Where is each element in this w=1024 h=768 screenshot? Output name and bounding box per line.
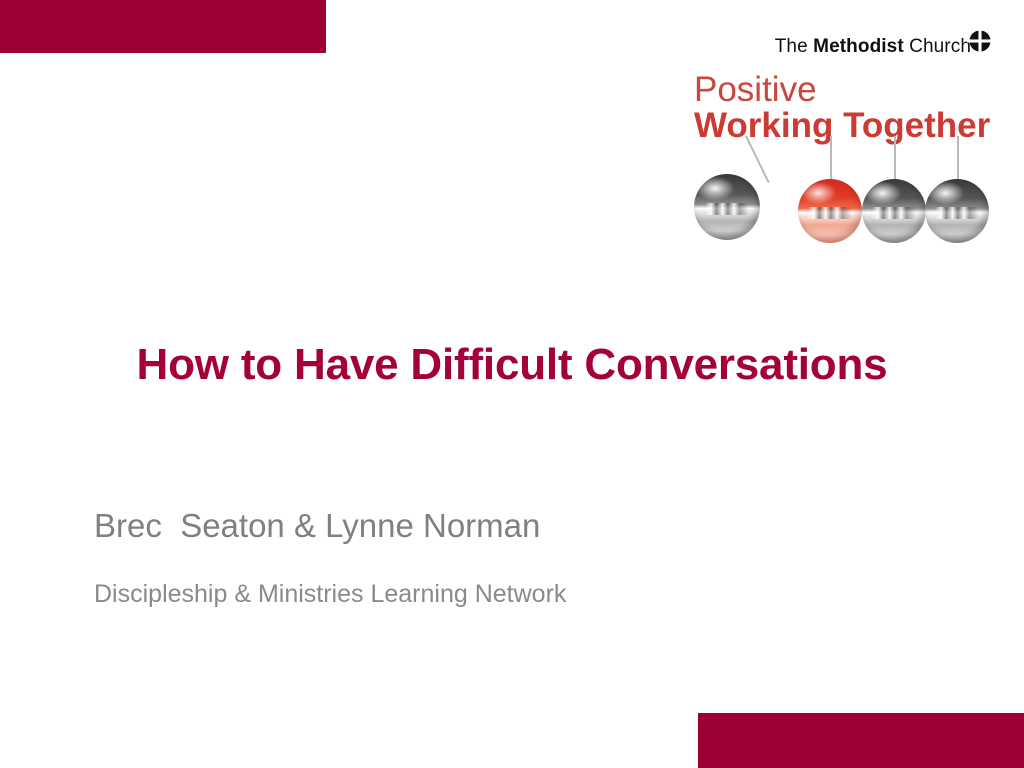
methodist-wordmark: The Methodist Church: [775, 36, 971, 58]
silver-ball-right: [925, 179, 989, 243]
presenter-names: Brec Seaton & Lynne Norman: [94, 506, 814, 546]
wordmark-prefix: The: [775, 36, 813, 57]
tagline-positive: Positive: [694, 72, 817, 107]
methodist-church-logo: The Methodist Church Positive Working To…: [683, 28, 993, 258]
bottom-right-accent-bar: [698, 713, 1024, 768]
ball-reflection: [935, 207, 979, 219]
top-left-accent-bar: [0, 0, 326, 53]
page-title: How to Have Difficult Conversations: [92, 340, 932, 391]
silver-ball-middle: [862, 179, 926, 243]
ball-reflection: [808, 207, 852, 219]
circle-cross-icon: [967, 28, 993, 54]
presentation-slide: The Methodist Church Positive Working To…: [0, 0, 1024, 768]
organisation-name: Discipleship & Ministries Learning Netwo…: [94, 579, 814, 609]
swinging-silver-ball: [694, 174, 760, 240]
red-ball: [798, 179, 862, 243]
tagline-working-together: Working Together: [694, 108, 990, 143]
string-swinging-ball: [745, 136, 770, 184]
subtitle-block: Brec Seaton & Lynne Norman Discipleship …: [94, 506, 814, 609]
newtons-cradle-illustration: [683, 140, 993, 260]
wordmark-suffix: Church: [904, 36, 971, 57]
ball-reflection: [705, 203, 750, 215]
ball-reflection: [872, 207, 916, 219]
wordmark-bold: Methodist: [813, 36, 904, 57]
